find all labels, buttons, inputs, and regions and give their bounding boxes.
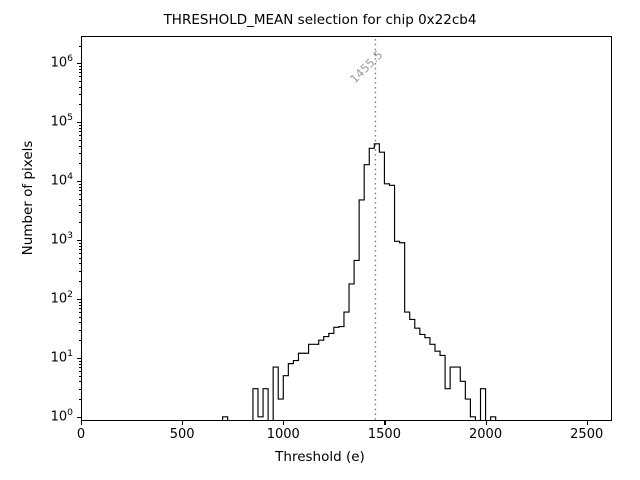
y-axis-tick-mark (77, 63, 81, 64)
y-axis-minor-tick-mark (79, 187, 81, 188)
y-axis-minor-tick-mark (79, 305, 81, 306)
y-axis-minor-tick-mark (79, 212, 81, 213)
y-axis-minor-tick-mark (79, 146, 81, 147)
y-axis-minor-tick-mark (79, 128, 81, 129)
y-axis-minor-tick-mark (79, 330, 81, 331)
y-axis-minor-tick-mark (79, 163, 81, 164)
y-axis-minor-tick-mark (79, 135, 81, 136)
x-axis-tick-label: 2000 (469, 427, 502, 442)
x-axis-tick-label: 1000 (267, 427, 300, 442)
histogram-figure: THRESHOLD_MEAN selection for chip 0x22cb… (0, 0, 640, 480)
y-axis-minor-tick-mark (79, 258, 81, 259)
x-axis-tick-mark (81, 421, 82, 425)
y-axis-tick-mark (77, 181, 81, 182)
y-axis-minor-tick-mark (79, 253, 81, 254)
y-axis-minor-tick-mark (79, 153, 81, 154)
y-axis-tick-label: 106 (51, 56, 73, 71)
y-axis-tick-label: 105 (51, 115, 73, 130)
y-axis-minor-tick-mark (79, 312, 81, 313)
y-axis-minor-tick-mark (79, 205, 81, 206)
y-axis-minor-tick-mark (79, 340, 81, 341)
y-axis-minor-tick-mark (79, 140, 81, 141)
y-axis-minor-tick-mark (79, 66, 81, 67)
y-axis-tick-label: 100 (51, 409, 73, 424)
y-axis-minor-tick-mark (79, 308, 81, 309)
y-axis-minor-tick-mark (79, 194, 81, 195)
y-axis-label: Number of pixels (20, 78, 36, 318)
y-axis-tick-label: 102 (51, 291, 73, 306)
y-axis-minor-tick-mark (79, 399, 81, 400)
y-axis-minor-tick-mark (79, 81, 81, 82)
y-axis-minor-tick-mark (79, 364, 81, 365)
x-axis-tick-mark (182, 421, 183, 425)
y-axis-minor-tick-mark (79, 381, 81, 382)
y-axis-minor-tick-mark (79, 249, 81, 250)
x-axis-tick-mark (587, 421, 588, 425)
y-axis-tick-label: 103 (51, 233, 73, 248)
y-axis-minor-tick-mark (79, 190, 81, 191)
y-axis-minor-tick-mark (79, 389, 81, 390)
y-axis-minor-tick-mark (79, 371, 81, 372)
x-axis-tick-label: 2500 (570, 427, 603, 442)
y-axis-minor-tick-mark (79, 131, 81, 132)
y-axis-minor-tick-mark (79, 184, 81, 185)
y-axis-minor-tick-mark (79, 222, 81, 223)
x-axis-tick-mark (283, 421, 284, 425)
y-axis-minor-tick-mark (79, 243, 81, 244)
y-axis-minor-tick-mark (79, 322, 81, 323)
y-axis-minor-tick-mark (79, 125, 81, 126)
y-axis-minor-tick-mark (79, 271, 81, 272)
y-axis-minor-tick-mark (79, 87, 81, 88)
y-axis-minor-tick-mark (79, 317, 81, 318)
axes-frame (81, 36, 612, 421)
y-axis-minor-tick-mark (79, 263, 81, 264)
x-axis-tick-label: 500 (170, 427, 195, 442)
y-axis-tick-mark (77, 240, 81, 241)
y-axis-minor-tick-mark (79, 104, 81, 105)
y-axis-minor-tick-mark (79, 376, 81, 377)
x-axis-tick-label: 0 (77, 427, 85, 442)
y-axis-minor-tick-mark (79, 246, 81, 247)
y-axis-tick-mark (77, 417, 81, 418)
y-axis-minor-tick-mark (79, 199, 81, 200)
y-axis-tick-mark (77, 299, 81, 300)
y-axis-minor-tick-mark (79, 361, 81, 362)
y-axis-tick-label: 101 (51, 350, 73, 365)
page-title: THRESHOLD_MEAN selection for chip 0x22cb… (0, 12, 640, 28)
y-axis-tick-mark (77, 122, 81, 123)
y-axis-minor-tick-mark (79, 69, 81, 70)
x-axis-tick-mark (384, 421, 385, 425)
y-axis-minor-tick-mark (79, 281, 81, 282)
y-axis-tick-mark (77, 358, 81, 359)
y-axis-minor-tick-mark (79, 76, 81, 77)
y-axis-minor-tick-mark (79, 302, 81, 303)
y-axis-tick-label: 104 (51, 174, 73, 189)
y-axis-minor-tick-mark (79, 46, 81, 47)
y-axis-minor-tick-mark (79, 367, 81, 368)
y-axis-minor-tick-mark (79, 72, 81, 73)
x-axis-tick-label: 1500 (368, 427, 401, 442)
y-axis-minor-tick-mark (79, 94, 81, 95)
x-axis-label: Threshold (e) (0, 449, 640, 465)
x-axis-tick-mark (486, 421, 487, 425)
